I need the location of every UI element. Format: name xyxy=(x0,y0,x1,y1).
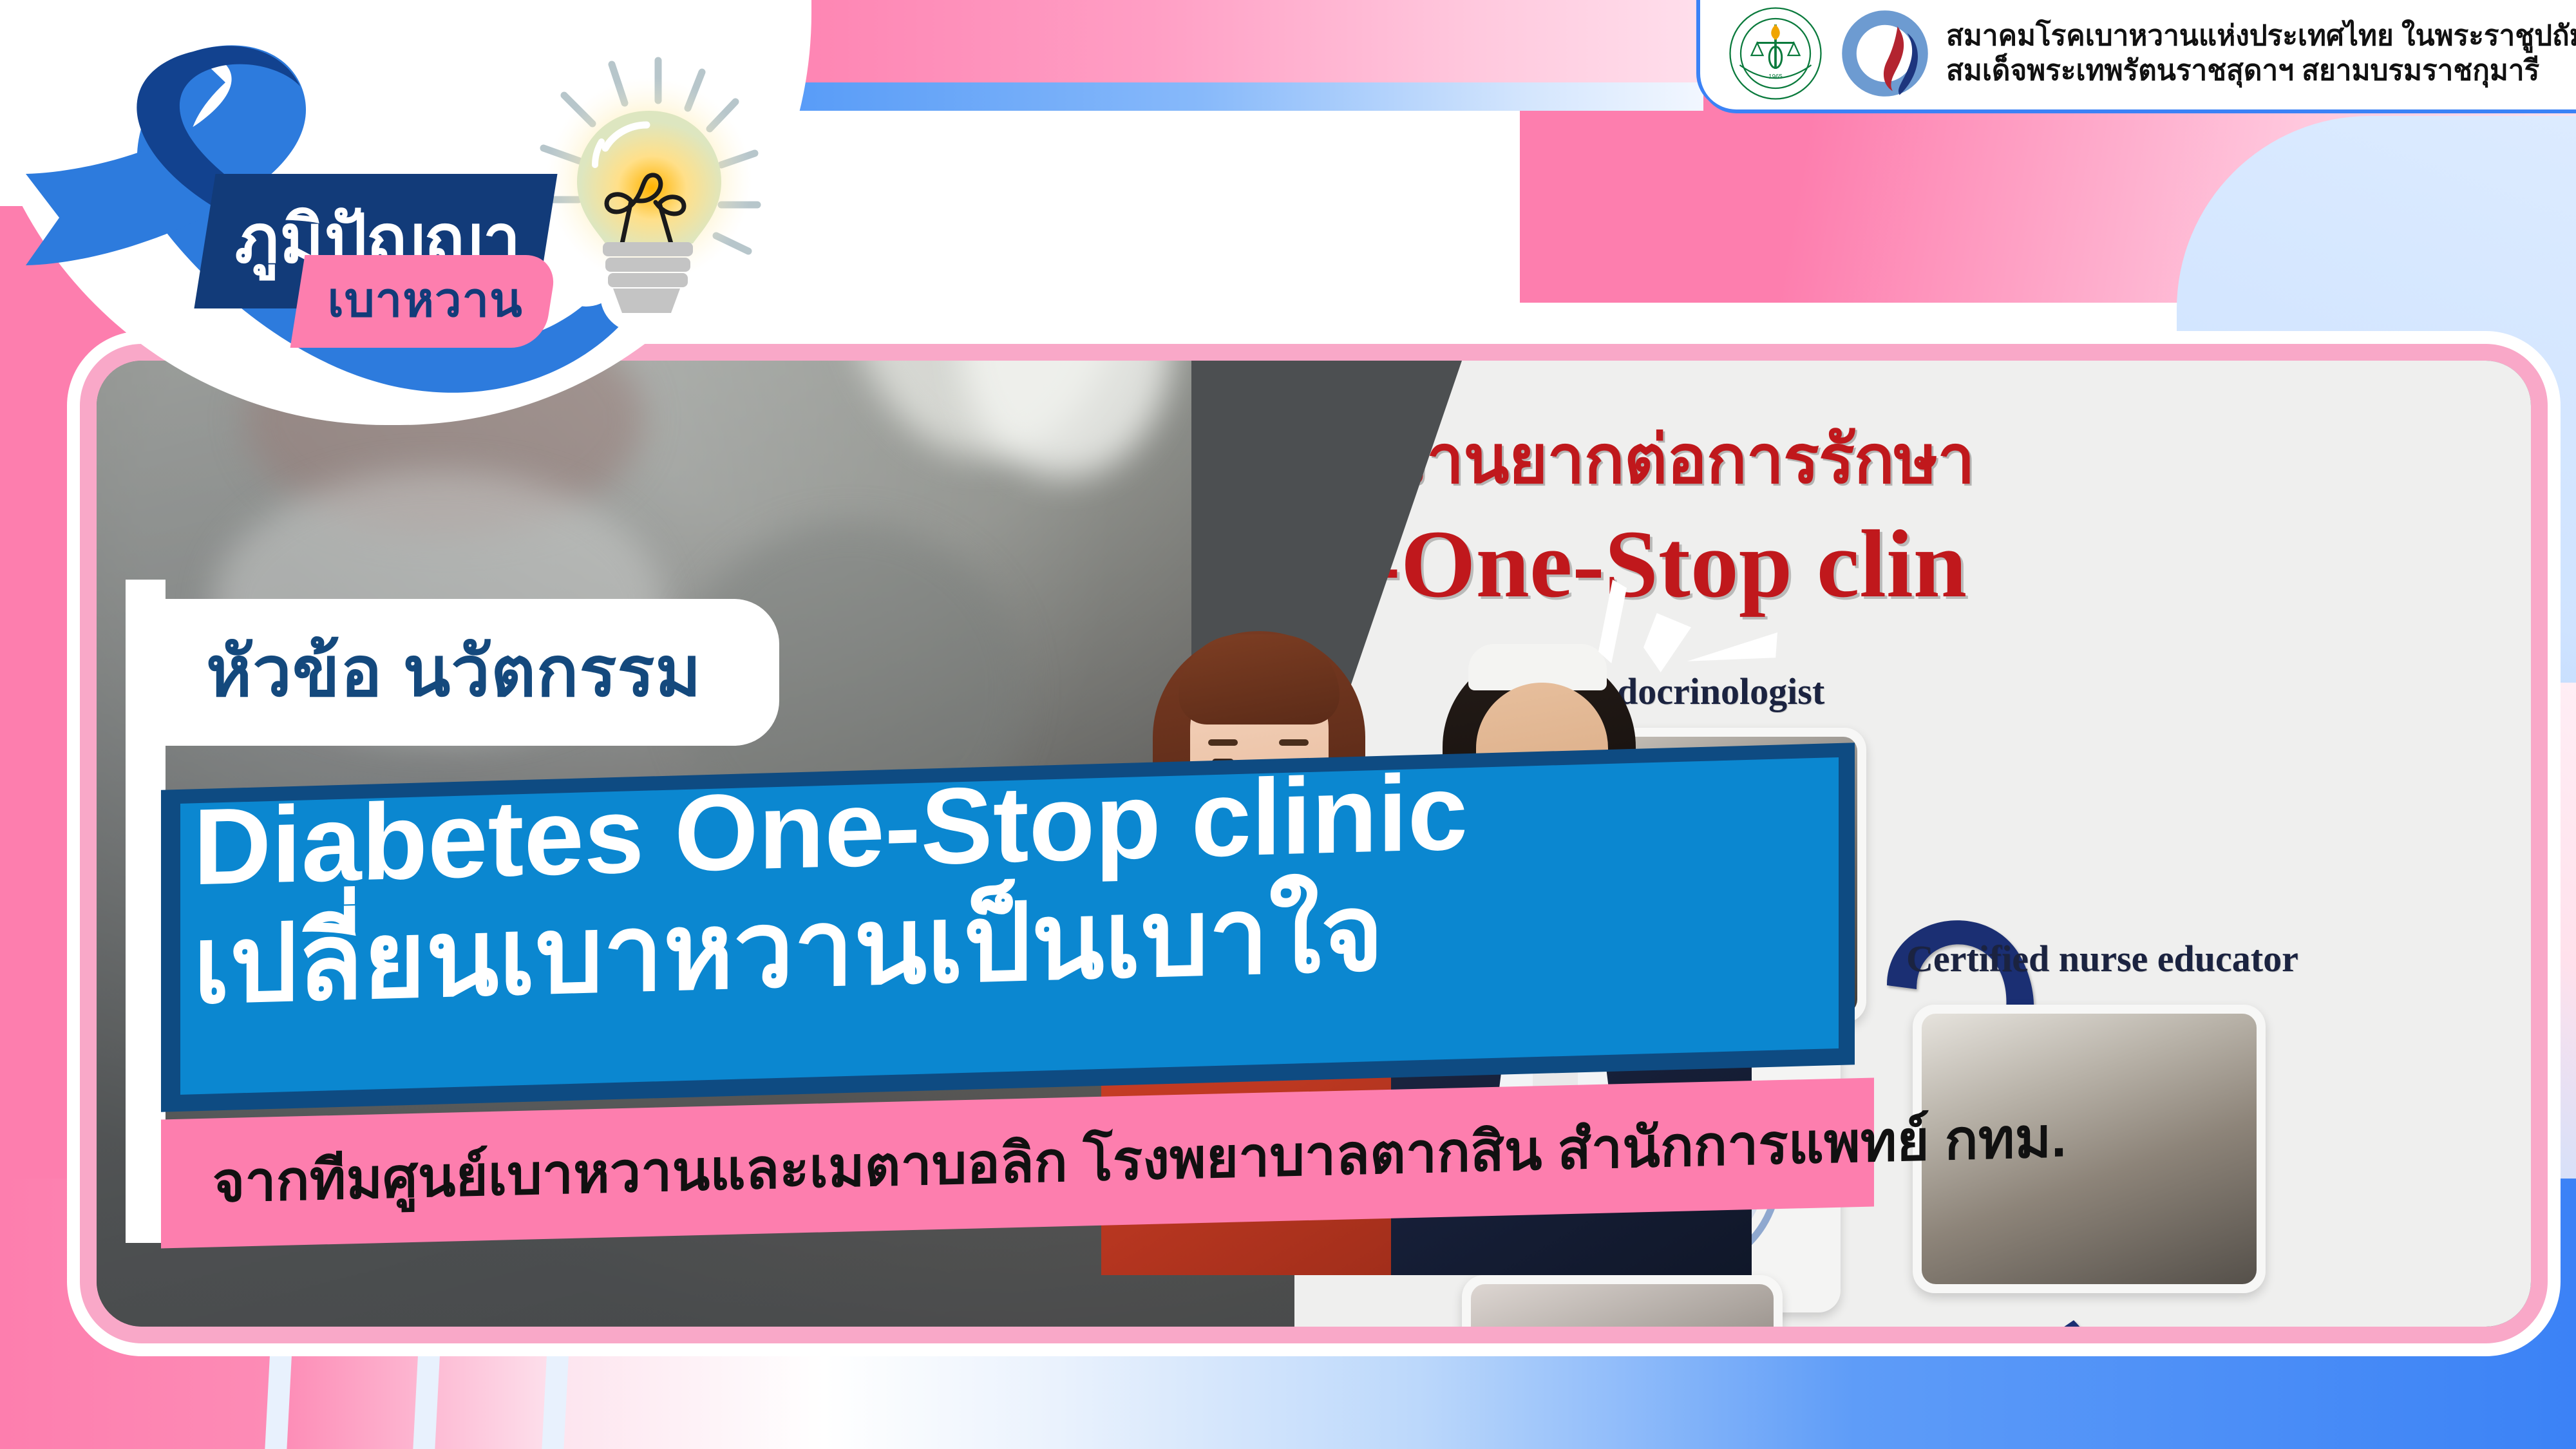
title-banner-text: Diabetes One-Stop clinic เปลี่ยนเบาหวานเ… xyxy=(193,746,1868,1027)
program-logo: ภูมิปัญญา เบาหวาน xyxy=(0,0,824,464)
association-line-2: สมเด็จพระเทพรัตนราชสุดาฯ สยามบรมราชกุมาร… xyxy=(1946,53,2576,88)
role-photo-pharmacist xyxy=(1462,1275,1783,1327)
flow-arrow-bottom-right xyxy=(1938,1314,2132,1327)
topic-label: หัวข้อ นวัตกรรม xyxy=(206,632,702,710)
center-ring-icon xyxy=(1837,5,1933,102)
role-label-nurse-educator: Certified nurse educator xyxy=(1906,937,2298,980)
left-white-accent-bar xyxy=(126,580,166,1243)
svg-text:1965: 1965 xyxy=(1768,73,1783,80)
association-text: สมาคมโรคเบาหวานแห่งประเทศไทย ในพระราชูปถ… xyxy=(1946,19,2576,88)
brand-badge-secondary: เบาหวาน xyxy=(290,255,558,348)
top-pink-stripe xyxy=(699,0,1703,82)
top-blue-stripe xyxy=(699,82,1703,111)
topic-pill: หัวข้อ นวัตกรรม xyxy=(161,599,779,746)
slide-heading-thai: หวานยากต่อการรักษา xyxy=(1346,406,2312,512)
association-line-1: สมาคมโรคเบาหวานแห่งประเทศไทย ในพระราชูปถ… xyxy=(1946,19,2576,53)
association-seal-icon: 1965 xyxy=(1727,5,1824,102)
brand-badge-secondary-label: เบาหวาน xyxy=(327,261,522,337)
poster-canvas: หวานยากต่อการรักษา tes-One-Stop clin End… xyxy=(0,0,2576,1449)
association-header: 1965 สมาคมโรคเบาหวานแห่งประเทศไทย ในพระร… xyxy=(1700,0,2576,109)
